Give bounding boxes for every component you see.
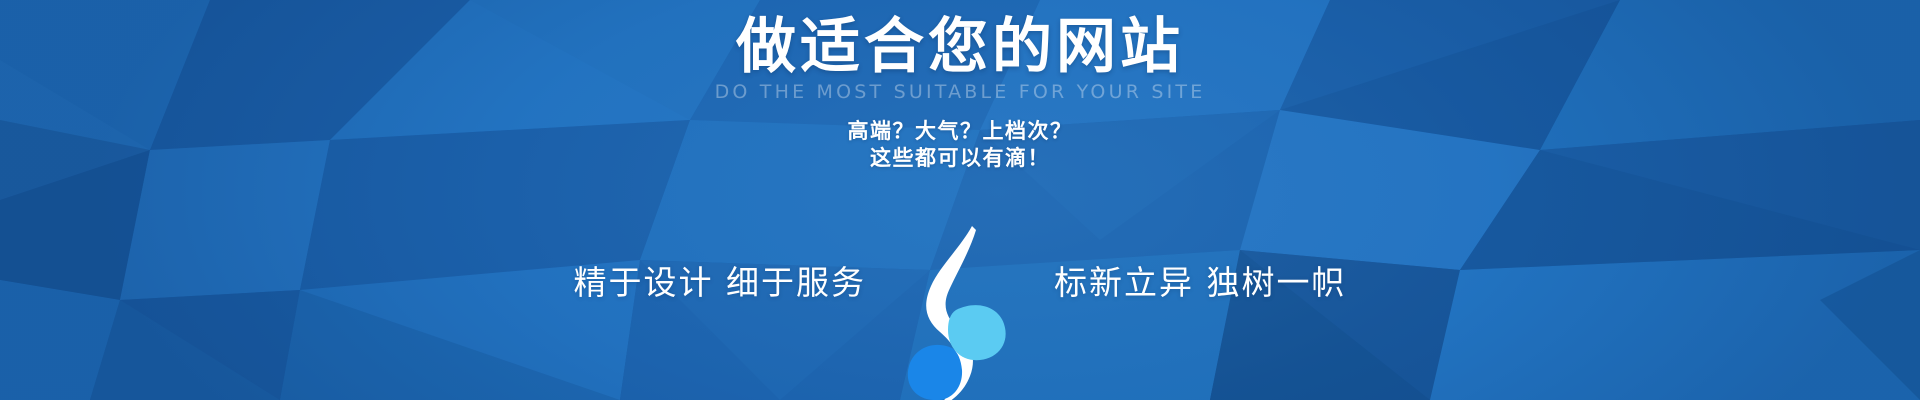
page-title: 做适合您的网站 (736, 12, 1184, 82)
leaf-stem-logo-icon (900, 222, 1020, 400)
banner-content: 做适合您的网站 DO THE MOST SUITABLE FOR YOUR SI… (0, 0, 1920, 400)
page-subtitle-english: DO THE MOST SUITABLE FOR YOUR SITE (715, 80, 1206, 104)
logo-leaf-upper (948, 305, 1006, 360)
hero-banner: 做适合您的网站 DO THE MOST SUITABLE FOR YOUR SI… (0, 0, 1920, 400)
slogan-right: 标新立异 独树一帜 (1020, 263, 1350, 303)
slogan-left: 精于设计 细于服务 (570, 263, 900, 303)
logo-leaf-lower (908, 345, 962, 400)
slogan-row: 精于设计 细于服务 标新立异 独树一帜 (0, 188, 1920, 378)
tagline-line-1: 高端？大气？上档次？ (848, 118, 1073, 145)
tagline-line-2: 这些都可以有滴！ (870, 145, 1050, 172)
